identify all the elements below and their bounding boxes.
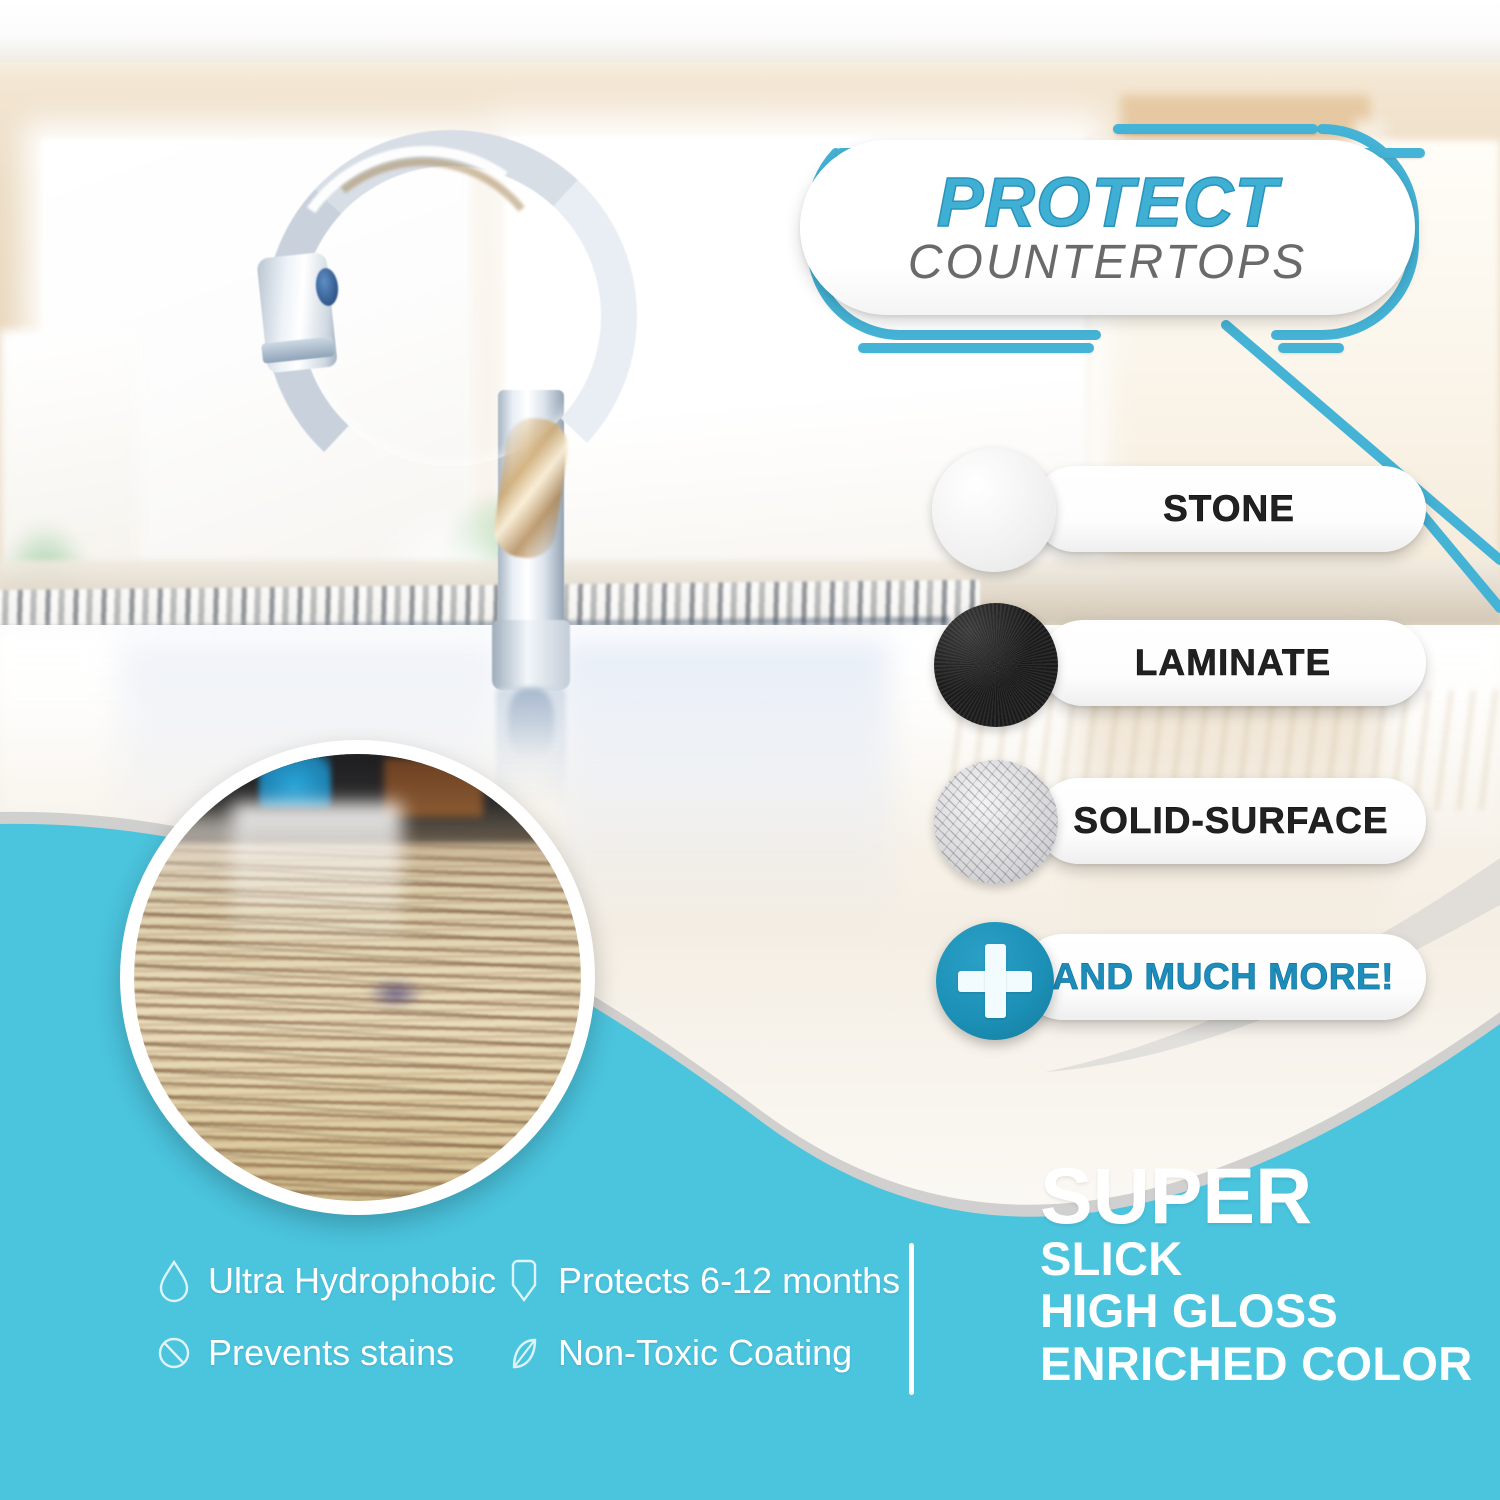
decor-line-bottom-left-long xyxy=(858,343,1094,353)
material-label: STONE xyxy=(1163,488,1295,530)
water-drop-icon xyxy=(155,1258,193,1304)
benefit-line-1: SLICK xyxy=(1040,1233,1472,1286)
page-subtitle: COUNTERTOPS xyxy=(908,239,1307,287)
white-marble-swatch-icon xyxy=(932,448,1056,572)
benefits-lead: SUPER xyxy=(1040,1160,1472,1233)
feature-protects-duration: Protects 6-12 months xyxy=(505,1258,900,1304)
decor-line-bottom-right-stub xyxy=(1278,343,1344,353)
feature-prevents-stains: Prevents stains xyxy=(155,1330,454,1376)
and-much-more-label: AND MUCH MORE! xyxy=(1052,956,1394,998)
material-pill-solid-surface[interactable]: SOLID-SURFACE xyxy=(1036,778,1426,864)
headline-badge: PROTECT COUNTERTOPS xyxy=(800,140,1415,315)
material-label: SOLID-SURFACE xyxy=(1073,800,1388,842)
granite-closeup-inset xyxy=(120,740,595,1215)
and-much-more-pill[interactable]: AND MUCH MORE! xyxy=(1020,934,1426,1020)
no-stain-icon xyxy=(155,1330,193,1376)
benefit-line-3: ENRICHED COLOR xyxy=(1040,1338,1472,1391)
material-label: LAMINATE xyxy=(1135,642,1331,684)
feature-non-toxic: Non-Toxic Coating xyxy=(505,1330,852,1376)
feature-ultra-hydrophobic: Ultra Hydrophobic xyxy=(155,1258,496,1304)
black-laminate-swatch-icon xyxy=(934,603,1058,727)
material-pill-stone[interactable]: STONE xyxy=(1032,466,1426,552)
feature-label: Non-Toxic Coating xyxy=(558,1332,852,1374)
leaf-icon xyxy=(505,1330,543,1376)
feature-label: Protects 6-12 months xyxy=(558,1260,900,1302)
feature-label: Ultra Hydrophobic xyxy=(208,1260,496,1302)
benefits-block: SUPER SLICK HIGH GLOSS ENRICHED COLOR xyxy=(1040,1160,1472,1391)
benefit-line-2: HIGH GLOSS xyxy=(1040,1285,1472,1338)
vertical-divider xyxy=(909,1243,914,1395)
shield-icon xyxy=(505,1258,543,1304)
gray-solid-surface-swatch-icon xyxy=(934,760,1058,884)
infographic-canvas: PROTECT COUNTERTOPS STONE LAMINATE SOLID… xyxy=(0,0,1500,1500)
plus-icon xyxy=(936,922,1054,1040)
material-pill-laminate[interactable]: LAMINATE xyxy=(1040,620,1426,706)
page-title: PROTECT xyxy=(937,168,1278,237)
feature-label: Prevents stains xyxy=(208,1332,454,1374)
decor-line-top-right xyxy=(1113,124,1318,134)
